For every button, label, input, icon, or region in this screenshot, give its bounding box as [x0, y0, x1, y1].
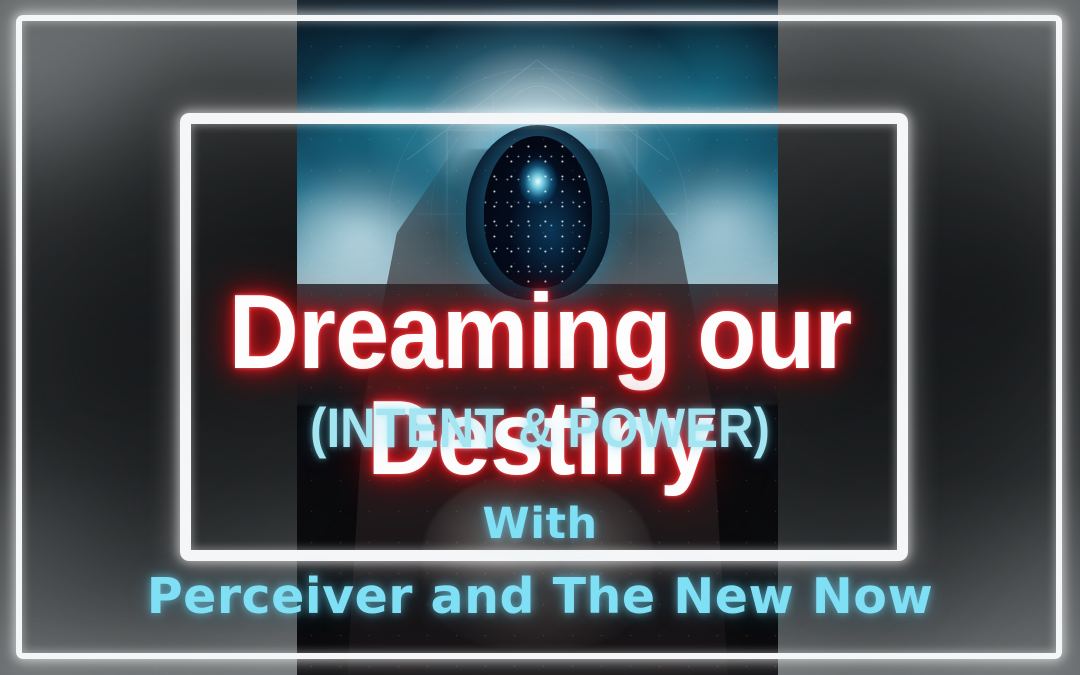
text-overlay: Dreaming our Destiny (INTENT & POWER) Wi…: [0, 0, 1080, 675]
page-title: Dreaming our Destiny: [43, 279, 1037, 491]
poster-canvas: Dreaming our Destiny (INTENT & POWER) Wi…: [0, 0, 1080, 675]
host-name: Perceiver and The New Now: [0, 572, 1080, 621]
page-subtitle: (INTENT & POWER): [65, 400, 1015, 456]
with-label: With: [0, 503, 1080, 546]
